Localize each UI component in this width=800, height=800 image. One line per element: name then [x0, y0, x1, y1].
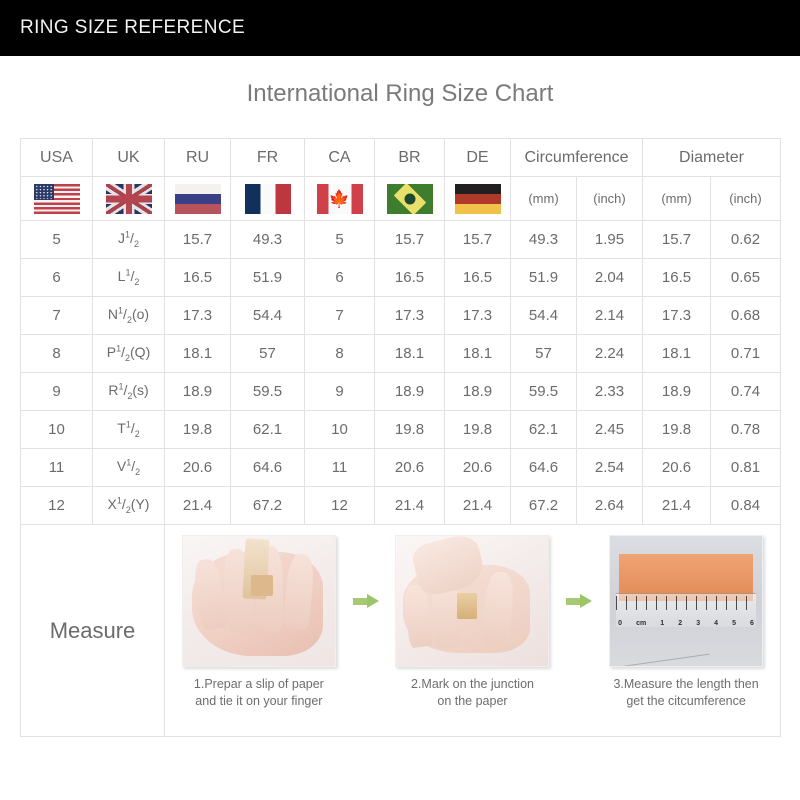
step-1-caption: 1.Prepar a slip of paper and tie it on y…: [194, 676, 324, 710]
step-3-caption-line1: 3.Measure the length then: [613, 676, 758, 693]
cell-br: 15.7: [375, 221, 445, 259]
cell-fr: 49.3: [231, 221, 305, 259]
cell-diameter-inch: 0.74: [711, 373, 781, 411]
ruler-mark: 0: [618, 620, 622, 627]
step-2-caption: 2.Mark on the junction on the paper: [411, 676, 534, 710]
cell-ca: 11: [305, 449, 375, 487]
step-2-caption-line1: 2.Mark on the junction: [411, 676, 534, 693]
measure-step-2: 2.Mark on the junction on the paper: [388, 535, 556, 710]
col-header-diameter: Diameter: [643, 139, 781, 177]
table-header-row: USA UK RU FR CA BR DE Circumference Diam…: [21, 139, 781, 177]
cell-de: 18.1: [445, 335, 511, 373]
table-flag-row: 🍁 (mm) (inch) (mm) (inch): [21, 177, 781, 221]
cell-diameter-mm: 21.4: [643, 487, 711, 525]
cell-de: 20.6: [445, 449, 511, 487]
cell-diameter-mm: 18.9: [643, 373, 711, 411]
cell-ca: 9: [305, 373, 375, 411]
cell-ca: 8: [305, 335, 375, 373]
cell-diameter-mm: 20.6: [643, 449, 711, 487]
cell-ru: 18.9: [165, 373, 231, 411]
measure-step-3: 0cm123456 3.Measure the length then get …: [602, 535, 770, 710]
flag-cell-ru: [165, 177, 231, 221]
col-header-uk: UK: [93, 139, 165, 177]
ruler-mark: 3: [696, 620, 700, 627]
cell-uk: T1/2: [93, 411, 165, 449]
cell-fr: 64.6: [231, 449, 305, 487]
cell-uk: L1/2: [93, 259, 165, 297]
chart-title: International Ring Size Chart: [0, 80, 800, 108]
cell-fr: 59.5: [231, 373, 305, 411]
cell-uk: X1/2(Y): [93, 487, 165, 525]
cell-ru: 21.4: [165, 487, 231, 525]
cell-circumference-mm: 62.1: [511, 411, 577, 449]
cell-circumference-mm: 57: [511, 335, 577, 373]
table-row: 11V1/220.664.61120.620.664.62.5420.60.81: [21, 449, 781, 487]
cell-usa: 10: [21, 411, 93, 449]
table-row: 10T1/219.862.11019.819.862.12.4519.80.78: [21, 411, 781, 449]
cell-br: 18.1: [375, 335, 445, 373]
flag-cell-de: [445, 177, 511, 221]
cell-diameter-mm: 16.5: [643, 259, 711, 297]
flag-fr-icon: [245, 184, 291, 214]
col-header-ru: RU: [165, 139, 231, 177]
cell-uk: N1/2(o): [93, 297, 165, 335]
cell-circumference-inch: 2.04: [577, 259, 643, 297]
cell-circumference-mm: 54.4: [511, 297, 577, 335]
flag-ca-icon: 🍁: [317, 184, 363, 214]
flag-us-icon: [34, 184, 80, 214]
cell-circumference-inch: 2.54: [577, 449, 643, 487]
cell-diameter-inch: 0.78: [711, 411, 781, 449]
flag-br-icon: [387, 184, 433, 214]
cell-uk: R1/2(s): [93, 373, 165, 411]
subheader-circumference-mm: (mm): [511, 177, 577, 221]
flag-cell-ca: 🍁: [305, 177, 375, 221]
cell-circumference-mm: 59.5: [511, 373, 577, 411]
step-1-caption-line1: 1.Prepar a slip of paper: [194, 676, 324, 693]
cell-uk: V1/2: [93, 449, 165, 487]
cell-circumference-inch: 2.45: [577, 411, 643, 449]
cell-ru: 17.3: [165, 297, 231, 335]
step-3-caption: 3.Measure the length then get the citcum…: [613, 676, 758, 710]
cell-br: 20.6: [375, 449, 445, 487]
step-1-caption-line2: and tie it on your finger: [194, 693, 324, 710]
arrow-step2-to-step3-icon: [564, 535, 594, 667]
cell-circumference-inch: 1.95: [577, 221, 643, 259]
cell-usa: 6: [21, 259, 93, 297]
cell-fr: 67.2: [231, 487, 305, 525]
subheader-diameter-mm: (mm): [643, 177, 711, 221]
cell-br: 19.8: [375, 411, 445, 449]
col-header-br: BR: [375, 139, 445, 177]
page-header-bar: RING SIZE REFERENCE: [0, 0, 800, 56]
step-3-caption-line2: get the citcumference: [613, 693, 758, 710]
flag-ru-icon: [175, 184, 221, 214]
cell-fr: 57: [231, 335, 305, 373]
ruler-mark: cm: [636, 620, 646, 627]
cell-ru: 16.5: [165, 259, 231, 297]
cell-usa: 12: [21, 487, 93, 525]
cell-ru: 19.8: [165, 411, 231, 449]
cell-ru: 18.1: [165, 335, 231, 373]
cell-diameter-inch: 0.62: [711, 221, 781, 259]
cell-de: 17.3: [445, 297, 511, 335]
cell-ca: 6: [305, 259, 375, 297]
table-row: 5J1/215.749.3515.715.749.31.9515.70.62: [21, 221, 781, 259]
col-header-fr: FR: [231, 139, 305, 177]
measure-steps: 1.Prepar a slip of paper and tie it on y…: [171, 535, 774, 728]
measure-label: Measure: [21, 525, 165, 737]
cell-fr: 62.1: [231, 411, 305, 449]
page-title: RING SIZE REFERENCE: [0, 17, 245, 39]
table-row: 9R1/2(s)18.959.5918.918.959.52.3318.90.7…: [21, 373, 781, 411]
cell-de: 19.8: [445, 411, 511, 449]
cell-usa: 7: [21, 297, 93, 335]
cell-usa: 9: [21, 373, 93, 411]
cell-diameter-mm: 15.7: [643, 221, 711, 259]
cell-diameter-mm: 17.3: [643, 297, 711, 335]
cell-usa: 5: [21, 221, 93, 259]
cell-ru: 20.6: [165, 449, 231, 487]
table-row: 6L1/216.551.9616.516.551.92.0416.50.65: [21, 259, 781, 297]
col-header-ca: CA: [305, 139, 375, 177]
measure-row: Measure 1.Prepa: [21, 525, 781, 737]
cell-br: 16.5: [375, 259, 445, 297]
flag-cell-fr: [231, 177, 305, 221]
cell-br: 17.3: [375, 297, 445, 335]
measure-steps-cell: 1.Prepar a slip of paper and tie it on y…: [165, 525, 781, 737]
cell-ca: 5: [305, 221, 375, 259]
step-1-photo-hand-with-paper: [182, 535, 336, 667]
ruler-mark: 1: [660, 620, 664, 627]
flag-cell-br: [375, 177, 445, 221]
ruler-mark: 5: [732, 620, 736, 627]
cell-de: 21.4: [445, 487, 511, 525]
ruler-scale-labels: 0cm123456: [616, 614, 756, 632]
flag-cell-usa: [21, 177, 93, 221]
flag-de-icon: [455, 184, 501, 214]
cell-ca: 10: [305, 411, 375, 449]
col-header-usa: USA: [21, 139, 93, 177]
subheader-diameter-inch: (inch): [711, 177, 781, 221]
ruler-mark: 6: [750, 620, 754, 627]
cell-diameter-inch: 0.68: [711, 297, 781, 335]
ruler-mark: 2: [678, 620, 682, 627]
subheader-circumference-inch: (inch): [577, 177, 643, 221]
cell-circumference-inch: 2.33: [577, 373, 643, 411]
cell-circumference-mm: 67.2: [511, 487, 577, 525]
cell-br: 18.9: [375, 373, 445, 411]
cell-uk: J1/2: [93, 221, 165, 259]
flag-uk-icon: [106, 184, 152, 214]
cell-de: 18.9: [445, 373, 511, 411]
cell-de: 16.5: [445, 259, 511, 297]
cell-diameter-inch: 0.65: [711, 259, 781, 297]
ring-size-reference-page: RING SIZE REFERENCE International Ring S…: [0, 0, 800, 800]
cell-uk: P1/2(Q): [93, 335, 165, 373]
step-2-caption-line2: on the paper: [411, 693, 534, 710]
table-row: 7N1/2(o)17.354.4717.317.354.42.1417.30.6…: [21, 297, 781, 335]
table-row: 8P1/2(Q)18.157818.118.1572.2418.10.71: [21, 335, 781, 373]
cell-ru: 15.7: [165, 221, 231, 259]
cell-fr: 54.4: [231, 297, 305, 335]
arrow-step1-to-step2-icon: [351, 535, 381, 667]
cell-diameter-mm: 18.1: [643, 335, 711, 373]
cell-circumference-mm: 64.6: [511, 449, 577, 487]
cell-ca: 7: [305, 297, 375, 335]
cell-diameter-inch: 0.71: [711, 335, 781, 373]
cell-fr: 51.9: [231, 259, 305, 297]
flag-cell-uk: [93, 177, 165, 221]
cell-circumference-inch: 2.14: [577, 297, 643, 335]
cell-de: 15.7: [445, 221, 511, 259]
ring-size-table-body: 5J1/215.749.3515.715.749.31.9515.70.626L…: [21, 221, 781, 525]
cell-circumference-mm: 49.3: [511, 221, 577, 259]
col-header-de: DE: [445, 139, 511, 177]
cell-circumference-inch: 2.24: [577, 335, 643, 373]
cell-circumference-inch: 2.64: [577, 487, 643, 525]
cell-circumference-mm: 51.9: [511, 259, 577, 297]
ring-size-table: USA UK RU FR CA BR DE Circumference Diam…: [20, 138, 781, 737]
step-2-photo-marking-junction: [395, 535, 549, 667]
cell-ca: 12: [305, 487, 375, 525]
cell-diameter-inch: 0.81: [711, 449, 781, 487]
measure-step-1: 1.Prepar a slip of paper and tie it on y…: [175, 535, 343, 710]
step-3-photo-ruler-measurement: 0cm123456: [609, 535, 763, 667]
cell-br: 21.4: [375, 487, 445, 525]
table-row: 12X1/2(Y)21.467.21221.421.467.22.6421.40…: [21, 487, 781, 525]
cell-usa: 11: [21, 449, 93, 487]
cell-usa: 8: [21, 335, 93, 373]
ring-size-table-wrap: USA UK RU FR CA BR DE Circumference Diam…: [20, 138, 780, 737]
cell-diameter-inch: 0.84: [711, 487, 781, 525]
col-header-circumference: Circumference: [511, 139, 643, 177]
ruler-mark: 4: [714, 620, 718, 627]
cell-diameter-mm: 19.8: [643, 411, 711, 449]
